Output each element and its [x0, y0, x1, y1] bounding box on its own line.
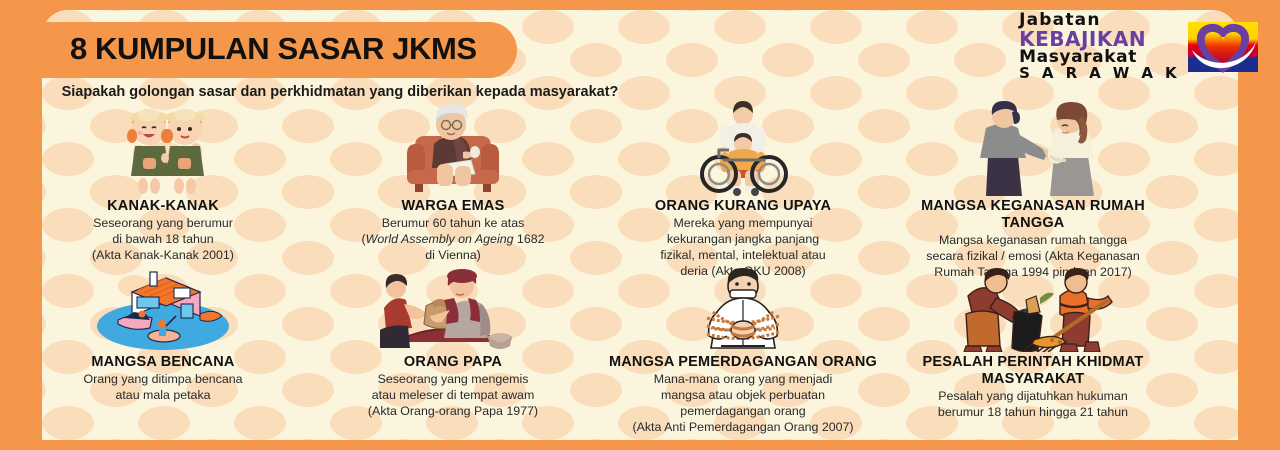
card-body-line: di bawah 18 tahun: [24, 232, 302, 248]
card-title: ORANG PAPA: [314, 354, 592, 371]
card-body: Pesalah yang dijatuhkan hukuman berumur …: [894, 389, 1172, 421]
card-orang-kurang-upaya: ORANG KURANG UPAYA Mereka yang mempunyai…: [598, 100, 888, 268]
card-body-line: atau meleser di tempat awam: [314, 388, 592, 404]
card-body-line: pemerdagangan orang: [604, 404, 882, 420]
logo-wordmark: Jabatan KEBAJIKAN Masyarakat S A R A W A…: [1019, 12, 1180, 81]
card-body: Orang yang ditimpa bencana atau mala pet…: [24, 372, 302, 404]
card-body-line: di Vienna): [314, 248, 592, 264]
card-body-line: (Akta Anti Pemerdagangan Orang 2007): [604, 420, 882, 436]
card-orang-papa: ORANG PAPA Seseorang yang mengemis atau …: [308, 268, 598, 436]
card-body: Mana-mana orang yang menjadi mangsa atau…: [604, 372, 882, 436]
card-body-line: berumur 18 tahun hingga 21 tahun: [894, 405, 1172, 421]
card-body-line: Seseorang yang mengemis: [314, 372, 592, 388]
card-body-line: atau mala petaka: [24, 388, 302, 404]
card-body-line: secara fizikal / emosi (Akta Keganasan: [894, 249, 1172, 265]
card-kanak-kanak: KANAK-KANAK Seseorang yang berumur di ba…: [18, 100, 308, 268]
two-children-illustration: [24, 100, 302, 196]
card-body-line: Orang yang ditimpa bencana: [24, 372, 302, 388]
heart-logo-icon: [1184, 16, 1262, 78]
act-reference: World Assembly on Ageing: [366, 232, 514, 246]
card-title: PESALAH PERINTAH KHIDMAT MASYARAKAT: [894, 354, 1172, 388]
card-body-line: Mana-mana orang yang menjadi: [604, 372, 882, 388]
subtitle: Siapakah golongan sasar dan perkhidmatan…: [60, 82, 620, 102]
card-mangsa-keganasan-rumah-tangga: MANGSA KEGANASAN RUMAH TANGGA Mangsa keg…: [888, 100, 1178, 268]
wheelchair-user-illustration: [604, 100, 882, 196]
card-body-line: Mereka yang mempunyai: [604, 216, 882, 232]
card-mangsa-bencana: MANGSA BENCANA Orang yang ditimpa bencan…: [18, 268, 308, 436]
card-body-line: kekurangan jangka panjang: [604, 232, 882, 248]
card-mangsa-pemerdagangan-orang: MANGSA PEMERDAGANGAN ORANG Mana-mana ora…: [598, 268, 888, 436]
logo-line-sarawak: S A R A W A K: [1019, 66, 1180, 81]
card-body-line-italic: (World Assembly on Ageing 1682: [314, 232, 592, 248]
card-body-line: Mangsa keganasan rumah tangga: [894, 233, 1172, 249]
card-body: Seseorang yang berumur di bawah 18 tahun…: [24, 216, 302, 264]
card-body: Seseorang yang mengemis atau meleser di …: [314, 372, 592, 420]
agency-logo: Jabatan KEBAJIKAN Masyarakat S A R A W A…: [1019, 12, 1262, 81]
infographic-poster: 8 KUMPULAN SASAR JKMS Siapakah golongan …: [0, 0, 1280, 450]
title-banner: 8 KUMPULAN SASAR JKMS: [42, 22, 517, 78]
card-title: MANGSA PEMERDAGANGAN ORANG: [604, 354, 882, 371]
community-service-workers-illustration: [894, 268, 1172, 352]
card-title: ORANG KURANG UPAYA: [604, 198, 882, 215]
card-pesalah-perintah-khidmat-masyarakat: PESALAH PERINTAH KHIDMAT MASYARAKAT Pesa…: [888, 268, 1178, 436]
card-body-line: (Akta Kanak-Kanak 2001): [24, 248, 302, 264]
logo-line-kebajikan: KEBAJIKAN: [1019, 29, 1180, 49]
bound-trafficking-victim-illustration: [604, 268, 882, 352]
elderly-woman-armchair-illustration: [314, 100, 592, 196]
beggar-illustration: [314, 268, 592, 352]
card-body-line: Seseorang yang berumur: [24, 216, 302, 232]
card-warga-emas: WARGA EMAS Berumur 60 tahun ke atas (Wor…: [308, 100, 598, 268]
card-body-line: mangsa atau objek perbuatan: [604, 388, 882, 404]
target-groups-grid: KANAK-KANAK Seseorang yang berumur di ba…: [18, 100, 1178, 436]
card-body-line: Pesalah yang dijatuhkan hukuman: [894, 389, 1172, 405]
card-title: KANAK-KANAK: [24, 198, 302, 215]
card-title: MANGSA KEGANASAN RUMAH TANGGA: [894, 198, 1172, 232]
card-body-line: fizikal, mental, intelektual atau: [604, 248, 882, 264]
card-body-line: Berumur 60 tahun ke atas: [314, 216, 592, 232]
card-title: MANGSA BENCANA: [24, 354, 302, 371]
card-title: WARGA EMAS: [314, 198, 592, 215]
flooded-house-illustration: [24, 268, 302, 352]
domestic-violence-illustration: [894, 100, 1172, 196]
card-body: Berumur 60 tahun ke atas (World Assembly…: [314, 216, 592, 264]
card-body-line: (Akta Orang-orang Papa 1977): [314, 404, 592, 420]
page-title: 8 KUMPULAN SASAR JKMS: [70, 31, 477, 67]
